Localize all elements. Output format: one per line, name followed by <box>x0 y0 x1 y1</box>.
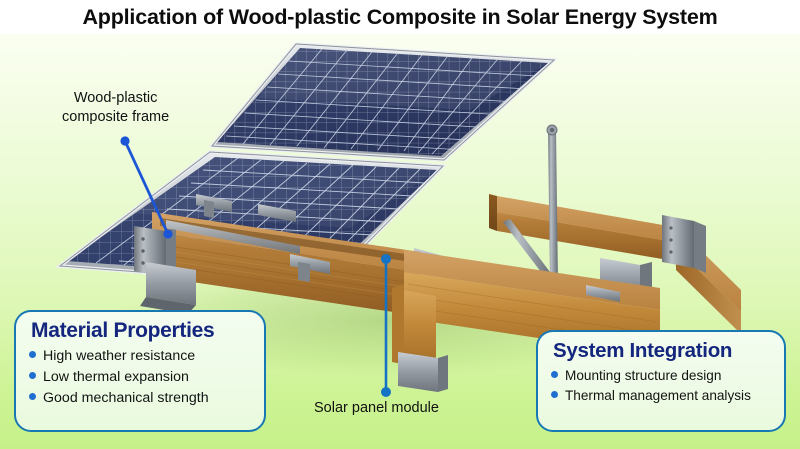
system-integration-list: Mounting structure design Thermal manage… <box>551 366 771 406</box>
callout-solar-panel-module: Solar panel module <box>314 399 439 418</box>
callout-line-1: Solar panel module <box>314 399 439 418</box>
list-item: Mounting structure design <box>551 366 771 386</box>
list-item-label: Low thermal expansion <box>43 367 189 388</box>
title-bar: Application of Wood-plastic Composite in… <box>0 0 800 34</box>
solar-panel-upper <box>212 44 554 160</box>
page-title: Application of Wood-plastic Composite in… <box>82 5 717 30</box>
info-box-title: Material Properties <box>31 319 251 343</box>
wood-plastic-beam-back <box>489 194 680 262</box>
callout-line-1: Wood-plastic <box>62 89 169 108</box>
bullet-icon <box>551 371 558 378</box>
list-item-label: High weather resistance <box>43 346 195 367</box>
list-item-label: Thermal management analysis <box>565 386 751 406</box>
support-foot <box>398 352 448 392</box>
support-foot <box>140 262 196 314</box>
callout-line-2: composite frame <box>62 108 169 127</box>
info-box-system-integration: System Integration Mounting structure de… <box>536 330 786 432</box>
list-item: Good mechanical strength <box>29 388 251 409</box>
bullet-icon <box>551 391 558 398</box>
info-box-title: System Integration <box>553 339 771 363</box>
corner-bracket <box>662 215 706 273</box>
bullet-icon <box>29 372 36 379</box>
info-box-material-properties: Material Properties High weather resista… <box>14 310 266 432</box>
callout-wood-plastic-composite-frame: Wood-plastic composite frame <box>62 89 169 127</box>
list-item-label: Mounting structure design <box>565 366 721 386</box>
list-item: Low thermal expansion <box>29 367 251 388</box>
infographic-canvas: Application of Wood-plastic Composite in… <box>0 0 800 449</box>
material-properties-list: High weather resistance Low thermal expa… <box>29 346 251 409</box>
list-item: Thermal management analysis <box>551 386 771 406</box>
bullet-icon <box>29 393 36 400</box>
list-item-label: Good mechanical strength <box>43 388 209 409</box>
bullet-icon <box>29 351 36 358</box>
list-item: High weather resistance <box>29 346 251 367</box>
